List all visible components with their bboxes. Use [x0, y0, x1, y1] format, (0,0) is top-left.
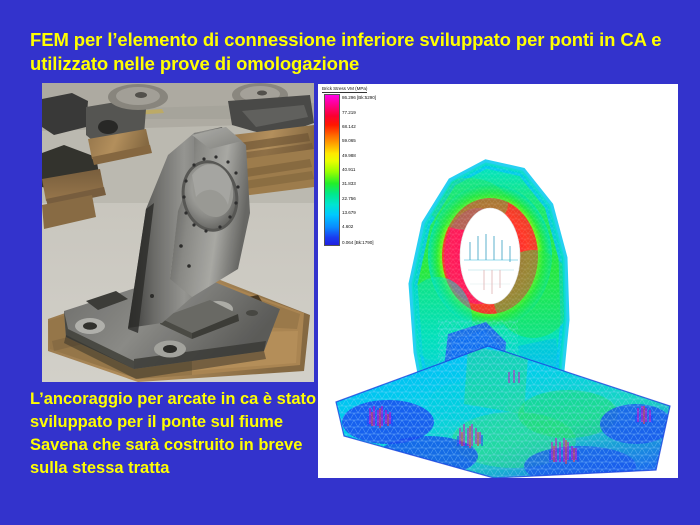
- legend-tick-4: 49.988: [342, 153, 356, 158]
- photo-image: [42, 83, 314, 382]
- stress-legend: Brick Stress VM (MPa) 86.296 [Bk:5290] 7…: [320, 86, 412, 264]
- legend-tick-5: 40.911: [342, 167, 355, 172]
- slide-caption: L’ancoraggio per arcate in ca è stato sv…: [30, 388, 318, 480]
- legend-tick-0: 86.296 [Bk:5290]: [342, 95, 376, 100]
- legend-tick-6: 31.833: [342, 181, 356, 186]
- legend-tick-labels: 86.296 [Bk:5290] 77.219 68.142 59.065 49…: [342, 92, 410, 250]
- slide: FEM per l’elemento di connessione inferi…: [0, 0, 700, 525]
- anchor-element-photo: [42, 83, 314, 382]
- page-title: FEM per l’elemento di connessione inferi…: [30, 28, 680, 76]
- legend-tick-8: 13.679: [342, 210, 356, 215]
- legend-tick-1: 77.219: [342, 110, 356, 115]
- legend-tick-10: 0.064 [Bk:1790]: [342, 240, 373, 245]
- legend-tick-2: 68.142: [342, 124, 356, 129]
- legend-tick-7: 22.756: [342, 196, 356, 201]
- legend-colorbar: [324, 94, 340, 246]
- legend-tick-9: 4.602: [342, 224, 353, 229]
- fem-result-panel: Brick Stress VM (MPa) 86.296 [Bk:5290] 7…: [318, 84, 678, 478]
- legend-tick-3: 59.065: [342, 138, 356, 143]
